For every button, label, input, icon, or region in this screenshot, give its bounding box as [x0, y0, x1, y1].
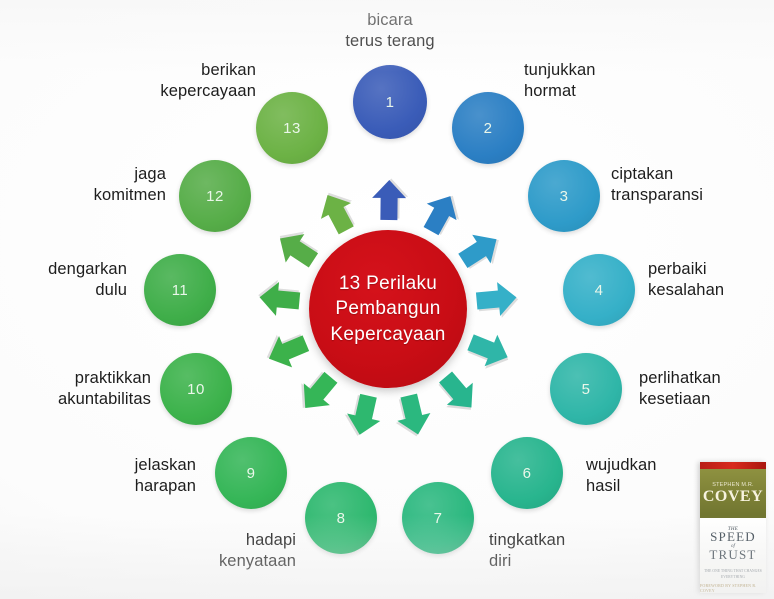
center-title-line-3: Kepercayaan	[330, 322, 445, 347]
behavior-circle-12[interactable]: 12	[179, 160, 251, 232]
behavior-circle-13[interactable]: 13	[256, 92, 328, 164]
book-author-large: COVEY	[703, 489, 763, 505]
radiating-arrow-9	[290, 365, 344, 420]
center-title-line-2: Pembangun	[335, 296, 440, 321]
behavior-circle-1[interactable]: 1	[353, 65, 427, 139]
book-title-line-1: SPEED	[710, 530, 756, 545]
behavior-circle-2[interactable]: 2	[452, 92, 524, 164]
behavior-label-3: ciptakan transparansi	[611, 164, 703, 206]
behavior-circle-9[interactable]: 9	[215, 437, 287, 509]
behavior-circle-10[interactable]: 10	[160, 353, 232, 425]
slide-canvas: 1bicara terus terang2tunjukkan hormat3ci…	[0, 0, 774, 599]
behavior-label-8: hadapi kenyataan	[219, 530, 296, 572]
behavior-label-13: berikan kepercayaan	[160, 60, 256, 102]
behavior-circle-4[interactable]: 4	[563, 254, 635, 326]
behavior-circle-3[interactable]: 3	[528, 160, 600, 232]
radiating-arrow-1	[372, 178, 408, 220]
behavior-label-11: dengarkan dulu	[48, 259, 127, 301]
behavior-label-10: praktikkan akuntabilitas	[58, 368, 151, 410]
book-author-small: STEPHEN M.R.	[712, 482, 754, 488]
behavior-label-2: tunjukkan hormat	[524, 60, 596, 102]
radiating-arrow-8	[341, 392, 385, 440]
behavior-circle-7[interactable]: 7	[402, 482, 474, 554]
behavior-circle-8[interactable]: 8	[305, 482, 377, 554]
behavior-label-1: bicara terus terang	[345, 10, 434, 52]
book-author-band: STEPHEN M.R. COVEY	[700, 469, 766, 518]
book-foreword: FOREWORD BY STEPHEN R. COVEY	[700, 583, 766, 593]
radiating-arrow-4	[475, 280, 520, 320]
radiating-arrow-3	[454, 224, 508, 277]
book-top-band	[700, 462, 766, 469]
book-title-area: THE SPEED of TRUST THE ONE THING THAT CH…	[700, 518, 766, 593]
book-subtitle: THE ONE THING THAT CHANGES EVERYTHING	[700, 569, 766, 580]
radiating-arrow-13	[312, 185, 363, 239]
behavior-label-5: perlihatkan kesetiaan	[639, 368, 721, 410]
behavior-circle-11[interactable]: 11	[144, 254, 216, 326]
radiating-arrow-10	[260, 326, 312, 375]
behavior-circle-5[interactable]: 5	[550, 353, 622, 425]
radiating-arrow-12	[269, 222, 323, 275]
radiating-arrow-7	[390, 392, 435, 441]
book-title-line-2: TRUST	[709, 548, 756, 563]
radiating-arrow-6	[431, 366, 485, 421]
radiating-arrow-2	[416, 187, 468, 241]
behavior-label-6: wujudkan hasil	[586, 455, 657, 497]
behavior-label-7: tingkatkan diri	[489, 530, 565, 572]
behavior-label-9: jelaskan harapan	[135, 455, 196, 497]
behavior-label-4: perbaiki kesalahan	[648, 259, 724, 301]
radiating-arrow-5	[463, 327, 515, 376]
radiating-arrow-11	[257, 278, 302, 318]
center-hub: 13 PerilakuPembangunKepercayaan	[309, 230, 467, 388]
center-title-line-1: 13 Perilaku	[339, 271, 437, 296]
book-cover-thumbnail: STEPHEN M.R. COVEY THE SPEED of TRUST TH…	[700, 462, 766, 593]
behavior-circle-6[interactable]: 6	[491, 437, 563, 509]
behavior-label-12: jaga komitmen	[94, 164, 166, 206]
